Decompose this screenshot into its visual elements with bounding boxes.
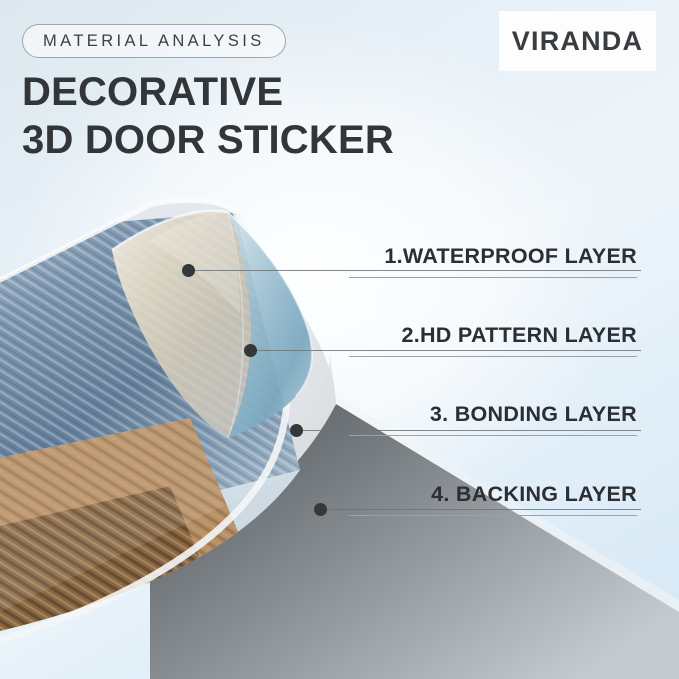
callout-waterproof-layer: 1.WATERPROOF LAYER — [349, 246, 637, 278]
callout-dot-4 — [314, 503, 327, 516]
callout-hd-pattern-layer: 2.HD PATTERN LAYER — [349, 325, 637, 357]
material-analysis-badge: MATERIAL ANALYSIS — [22, 24, 286, 58]
callout-rule-3 — [349, 435, 637, 436]
brand-logo: VIRANDA — [500, 12, 655, 70]
callout-dot-1 — [182, 264, 195, 277]
callout-rule-1 — [349, 277, 637, 278]
callout-backing-layer: 4. BACKING LAYER — [349, 484, 637, 516]
callout-rule-4 — [349, 515, 637, 516]
title-line-1: DECORATIVE — [22, 70, 283, 114]
callout-dot-2 — [244, 344, 257, 357]
callout-label-4: 4. BACKING LAYER — [349, 484, 637, 506]
callout-label-1: 1.WATERPROOF LAYER — [349, 246, 637, 268]
badge-label: MATERIAL ANALYSIS — [43, 32, 265, 51]
callout-rule-2 — [349, 356, 637, 357]
page-title: DECORATIVE 3D DOOR STICKER — [22, 68, 394, 164]
callout-dot-3 — [290, 424, 303, 437]
callout-bonding-layer: 3. BONDING LAYER — [349, 404, 637, 436]
brand-name: VIRANDA — [512, 26, 643, 57]
callout-label-2: 2.HD PATTERN LAYER — [349, 325, 637, 347]
product-infographic: MATERIAL ANALYSIS DECORATIVE 3D DOOR STI… — [0, 0, 679, 679]
callout-label-3: 3. BONDING LAYER — [349, 404, 637, 426]
title-line-2: 3D DOOR STICKER — [22, 116, 394, 164]
